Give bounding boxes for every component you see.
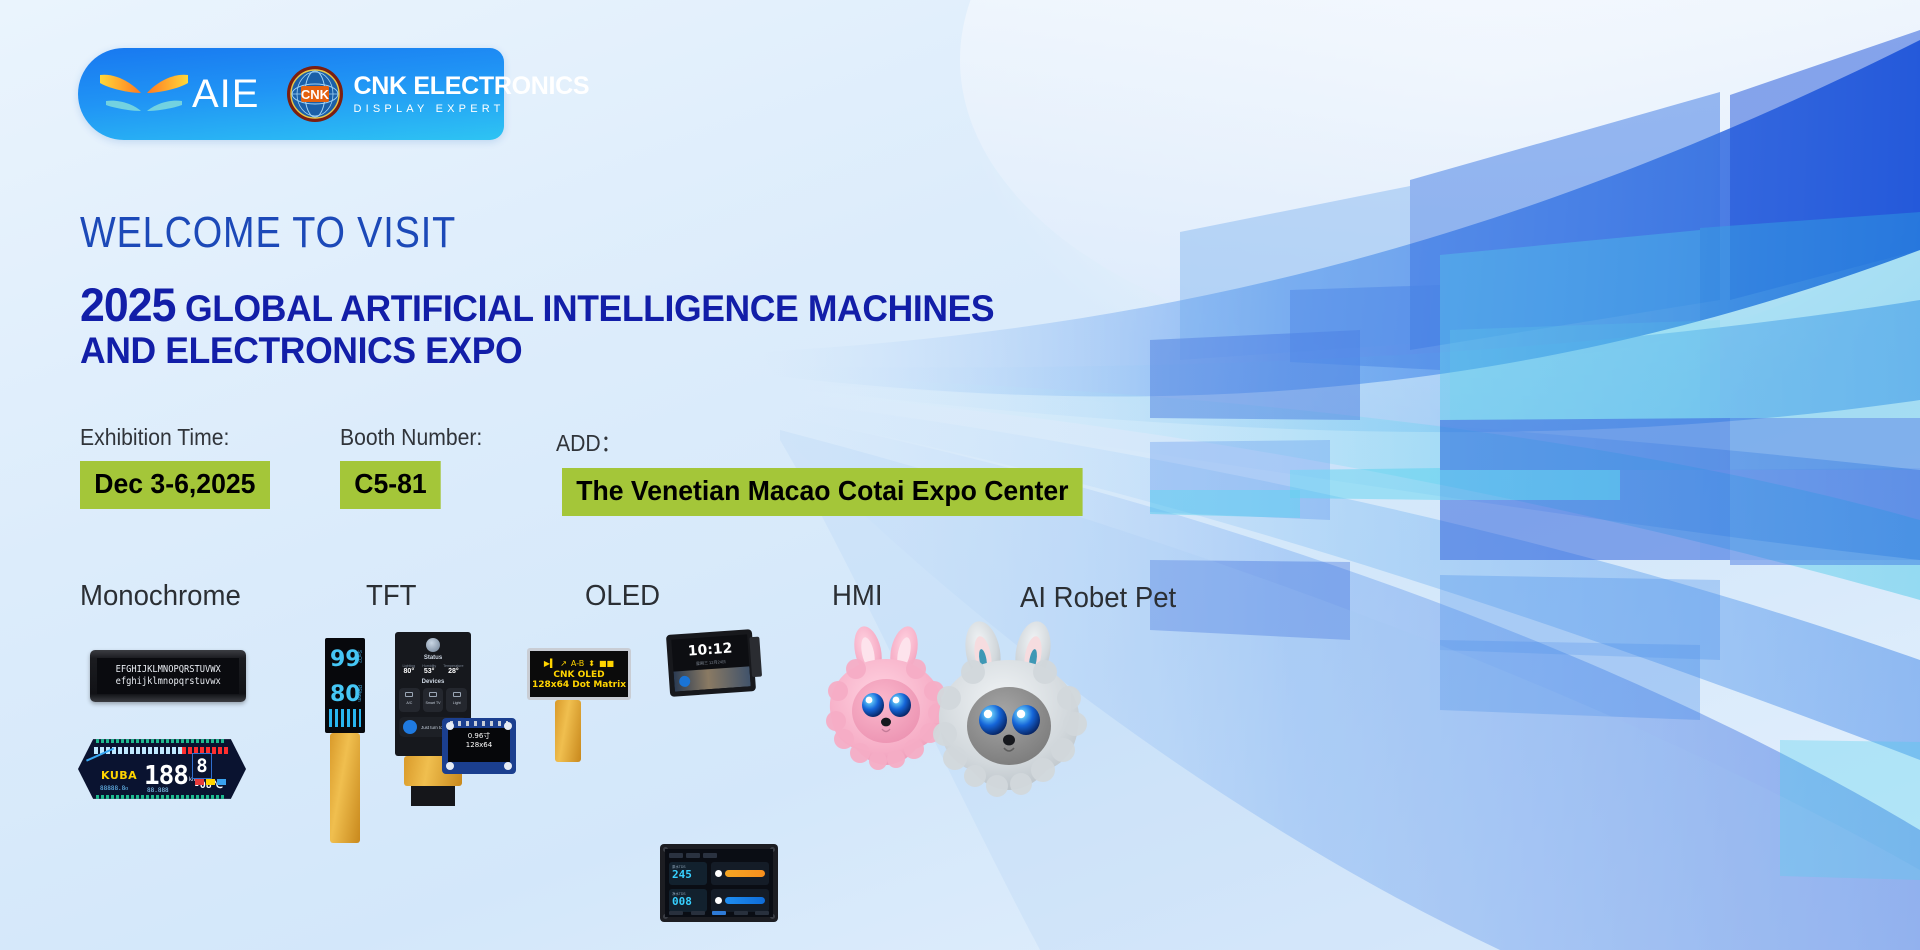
- welcome-heading: WELCOME TO VISIT: [80, 208, 456, 258]
- oled-module-screen: ▶▍ ↗ A-B ⬍ ■■ CNK OLED 128x64 Dot Matrix: [530, 651, 628, 697]
- event-details: Exhibition Time: Dec 3-6,2025 Booth Numb…: [80, 424, 1111, 516]
- play-pause-icon: ▶▍: [544, 659, 556, 668]
- svg-text:CNK: CNK: [301, 87, 330, 102]
- hmi-tds-raw: 原水TDS 245: [669, 862, 707, 885]
- exhibition-invitation-poster: AIE CNK CNK ELECTRONICS DISPLAY EXPERT W…: [0, 0, 1920, 950]
- cnk-tagline: DISPLAY EXPERT: [353, 104, 589, 115]
- oled-module-flex-cable: [555, 700, 581, 762]
- light-icon: [453, 692, 461, 697]
- hmi-tds-footer-tabs: [669, 911, 769, 915]
- cluster-trip: 88.888: [147, 787, 169, 794]
- cnk-seal-icon: CNK: [286, 65, 344, 123]
- hmi-slider-hot: [711, 862, 769, 885]
- exhibition-time-value: Dec 3-6,2025: [80, 461, 270, 509]
- logo-bar: AIE CNK CNK ELECTRONICS DISPLAY EXPERT: [78, 48, 504, 140]
- hmi-panel-connector: [749, 637, 762, 678]
- hmi-tds-pure-value: 008: [672, 896, 704, 908]
- tft-device-cards: A/C Smart TV Light: [399, 688, 467, 712]
- cnk-company-name: CNK ELECTRONICS: [353, 74, 589, 99]
- oled-dot-matrix-module-assembly: ▶▍ ↗ A-B ⬍ ■■ CNK OLED 128x64 Dot Matrix: [527, 648, 631, 762]
- event-title-line-1: GLOBAL ARTIFICIAL INTELLIGENCE MACHINES: [185, 289, 994, 329]
- tft-card-light: Light: [446, 688, 467, 712]
- oled-board-line-1: 0.96寸: [448, 732, 510, 741]
- oled-board-header-pins: [450, 721, 508, 726]
- hmi-wall-panel: 10:12 星期三 12月24日: [666, 629, 756, 697]
- ac-icon: [405, 692, 413, 697]
- character-lcd-module: EFGHIJKLMNOPQRSTUVWX efghijklmnopqrstuvw…: [90, 650, 246, 702]
- power-icon: [403, 720, 417, 734]
- hmi-tds-screen: 原水TDS 245 净水TDS 008: [665, 849, 773, 917]
- hmi-tds-tabs: [669, 853, 769, 858]
- oled-board-line-2: 128x64: [448, 741, 510, 750]
- tft-stat-temperature-value: 28°: [443, 668, 463, 675]
- booth-number-group: Booth Number: C5-81: [340, 424, 495, 509]
- battery-icon: ■■: [599, 659, 614, 668]
- tft-stat-humidity-value: 53°: [422, 668, 436, 675]
- address-value: The Venetian Macao Cotai Expo Center: [562, 468, 1083, 516]
- cluster-gear-indicator: 8: [192, 753, 212, 779]
- cluster-odometer: 88888.8ᴏ: [100, 785, 128, 792]
- tft-flex-cable: [330, 733, 360, 843]
- tft-card-smart-tv: Smart TV: [423, 688, 444, 712]
- ai-robot-pet-gray: [925, 620, 1095, 800]
- motorcycle-cluster-lcd: KUBA 188 km/h 88888.8ᴏ 88.888 8 -08℃: [78, 735, 246, 803]
- oled-dot-matrix-module: ▶▍ ↗ A-B ⬍ ■■ CNK OLED 128x64 Dot Matrix: [527, 648, 631, 700]
- tft-avatar-icon: [426, 638, 440, 652]
- character-lcd-line-2: efghijklmnopqrstuvwx: [115, 676, 220, 688]
- cluster-segment-bars: [195, 779, 226, 785]
- exhibition-time-label: Exhibition Time:: [80, 424, 264, 451]
- tft-stat-temperature: Temperature 28°: [443, 664, 463, 675]
- aie-wordmark: AIE: [192, 74, 259, 114]
- ab-repeat-icon: A-B: [571, 659, 584, 668]
- hmi-tds-body: 原水TDS 245 净水TDS 008: [669, 862, 769, 912]
- oled-module-line-2: 128x64 Dot Matrix: [532, 680, 626, 690]
- hmi-tds-panel: 原水TDS 245 净水TDS 008: [660, 844, 778, 922]
- tft-waveform: [329, 709, 361, 727]
- oled-module-icon-row: ▶▍ ↗ A-B ⬍ ■■: [544, 659, 614, 668]
- tft-stat-lighting: Lighting 80°: [403, 664, 416, 675]
- character-lcd-line-1: EFGHIJKLMNOPQRSTUVWX: [115, 664, 220, 676]
- hmi-tds-raw-value: 245: [672, 869, 704, 881]
- tft-pulse-unit: PRbpm: [356, 685, 362, 702]
- event-title: 2025 GLOBAL ARTIFICIAL INTELLIGENCE MACH…: [80, 280, 1028, 371]
- shuffle-icon: ↗: [560, 659, 567, 668]
- tft-stat-humidity: Humidity 53°: [422, 664, 436, 675]
- hmi-wall-panel-assembly: 10:12 星期三 12月24日: [668, 632, 754, 694]
- tft-bar-display-assembly: 99 SpO2 80 PRbpm: [325, 638, 365, 843]
- address-group: ADD： The Venetian Macao Cotai Expo Cente…: [556, 424, 1110, 516]
- tft-card-light-label: Light: [448, 701, 465, 705]
- oled-module-line-1: CNK OLED: [553, 670, 604, 680]
- hmi-tds-sliders: [711, 862, 769, 912]
- oled-breakout-board: 0.96寸 128x64: [442, 718, 516, 774]
- cluster-brand-text: KUBA: [101, 769, 137, 782]
- updown-icon: ⬍: [588, 659, 595, 668]
- aie-eye-icon: [96, 63, 192, 125]
- tft-oximeter-screen: 99 SpO2 80 PRbpm: [325, 638, 365, 733]
- hmi-slider-cold: [711, 889, 769, 912]
- tft-stat-lighting-value: 80°: [403, 668, 416, 675]
- tv-icon: [429, 692, 437, 697]
- address-label: ADD：: [556, 424, 1066, 458]
- tft-status-heading: Status: [399, 655, 467, 661]
- hmi-wall-screen: 10:12 星期三 12月24日: [671, 634, 750, 691]
- tft-card-ac-label: A/C: [401, 701, 418, 705]
- oled-board-screen: 0.96寸 128x64: [448, 728, 510, 762]
- tft-driver-board: [411, 786, 455, 806]
- character-lcd-screen: EFGHIJKLMNOPQRSTUVWX efghijklmnopqrstuvw…: [97, 658, 239, 694]
- tft-devices-heading: Devices: [399, 679, 467, 685]
- event-year: 2025: [80, 280, 176, 331]
- tft-spo2-unit: SpO2: [356, 650, 362, 663]
- tft-card-ac: A/C: [399, 688, 420, 712]
- booth-number-value: C5-81: [340, 461, 441, 509]
- event-title-line-2: AND ELECTRONICS EXPO: [80, 331, 522, 371]
- booth-number-label: Booth Number:: [340, 424, 482, 451]
- hmi-tds-readouts: 原水TDS 245 净水TDS 008: [669, 862, 707, 912]
- tft-card-smart-tv-label: Smart TV: [425, 701, 442, 705]
- exhibition-time-group: Exhibition Time: Dec 3-6,2025: [80, 424, 280, 509]
- hmi-tds-pure: 净水TDS 008: [669, 889, 707, 912]
- tft-stats-row: Lighting 80° Humidity 53° Temperature 28…: [399, 664, 467, 675]
- product-showcase: EFGHIJKLMNOPQRSTUVWX efghijklmnopqrstuvw…: [0, 520, 1320, 950]
